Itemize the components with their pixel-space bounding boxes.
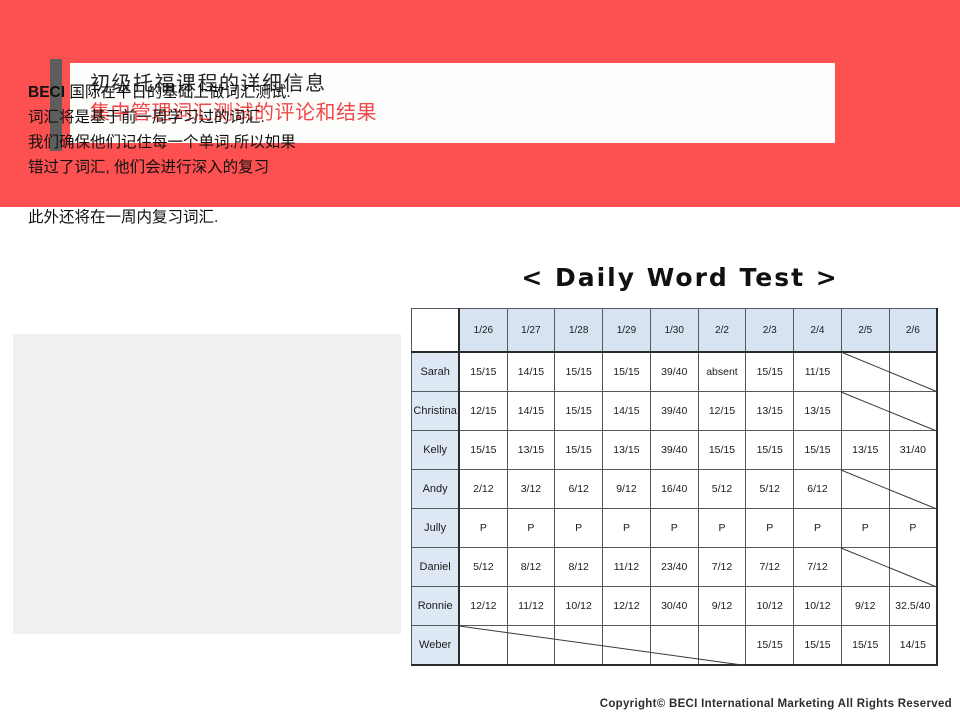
table-cell-score: 13/15 <box>507 431 555 470</box>
table-cell-score <box>650 626 698 666</box>
table-cell-score <box>603 626 651 666</box>
table-row-name: Andy <box>412 470 460 509</box>
table-cell-score: 7/12 <box>794 548 842 587</box>
table-cell-score: 10/12 <box>794 587 842 626</box>
table-cell-score: P <box>889 509 937 548</box>
table-cell-score: 15/15 <box>746 431 794 470</box>
table-cell-score: 30/40 <box>650 587 698 626</box>
table-cell-score: 15/15 <box>841 626 889 666</box>
table-row: Kelly15/1513/1515/1513/1539/4015/1515/15… <box>412 431 938 470</box>
table-cell-score: 16/40 <box>650 470 698 509</box>
table-cell-score: 15/15 <box>794 626 842 666</box>
table-cell-score: P <box>459 509 507 548</box>
table-cell-score: P <box>746 509 794 548</box>
table-cell-score <box>889 352 937 392</box>
table-column-header: 1/30 <box>650 309 698 353</box>
table-cell-score: P <box>698 509 746 548</box>
table-cell-score: 15/15 <box>459 431 507 470</box>
table-cell-score: absent <box>698 352 746 392</box>
table-cell-score: 6/12 <box>794 470 842 509</box>
table-cell-score <box>555 626 603 666</box>
table-cell-score: 32.5/40 <box>889 587 937 626</box>
table-cell-score: 3/12 <box>507 470 555 509</box>
table-cell-score: 39/40 <box>650 431 698 470</box>
table-title: < Daily Word Test > <box>410 263 950 292</box>
table-column-header: 2/5 <box>841 309 889 353</box>
table-cell-score <box>841 548 889 587</box>
table-cell-score: 6/12 <box>555 470 603 509</box>
table-cell-score: 15/15 <box>555 352 603 392</box>
description-blank-line <box>28 180 373 205</box>
table-row-name: Weber <box>412 626 460 666</box>
table-column-header: 1/29 <box>603 309 651 353</box>
description-line: 此外还将在一周内复习词汇. <box>28 205 373 230</box>
table-row-name: Daniel <box>412 548 460 587</box>
table-cell-score: 15/15 <box>698 431 746 470</box>
table-cell-score <box>841 352 889 392</box>
table-cell-score: 15/15 <box>555 431 603 470</box>
table-cell-score: 8/12 <box>507 548 555 587</box>
description-text-group: BECI 国际在平日的基础上做词汇测试.词汇将是基于前一周学习过的词汇.我们确保… <box>28 80 373 230</box>
table-cell-score <box>507 626 555 666</box>
table-cell-score: 12/15 <box>459 392 507 431</box>
daily-word-test-table-wrap: 1/261/271/281/291/302/22/32/42/52/6 Sara… <box>411 308 938 653</box>
table-corner-cell <box>412 309 460 353</box>
table-cell-score: P <box>507 509 555 548</box>
description-line: 词汇将是基于前一周学习过的词汇. <box>28 105 373 130</box>
table-cell-score <box>459 626 507 666</box>
table-cell-score <box>889 470 937 509</box>
table-cell-score: 14/15 <box>889 626 937 666</box>
table-row: Sarah15/1514/1515/1515/1539/40absent15/1… <box>412 352 938 392</box>
table-column-header: 2/4 <box>794 309 842 353</box>
table-cell-score: 39/40 <box>650 392 698 431</box>
table-cell-score: 12/15 <box>698 392 746 431</box>
table-row: Christina12/1514/1515/1514/1539/4012/151… <box>412 392 938 431</box>
table-cell-score: 11/15 <box>794 352 842 392</box>
table-cell-score: 14/15 <box>603 392 651 431</box>
table-cell-score: 11/12 <box>603 548 651 587</box>
description-line: 我们确保他们记住每一个单词.所以如果 <box>28 130 373 155</box>
table-cell-score: 8/12 <box>555 548 603 587</box>
table-cell-score: 15/15 <box>746 626 794 666</box>
table-column-header: 2/6 <box>889 309 937 353</box>
table-column-header: 2/2 <box>698 309 746 353</box>
table-head: 1/261/271/281/291/302/22/32/42/52/6 <box>412 309 938 353</box>
table-cell-score: 5/12 <box>698 470 746 509</box>
table-cell-score: 5/12 <box>746 470 794 509</box>
table-column-header: 1/28 <box>555 309 603 353</box>
table-row-name: Christina <box>412 392 460 431</box>
table-cell-score: 15/15 <box>746 352 794 392</box>
table-cell-score <box>698 626 746 666</box>
table-cell-score: 14/15 <box>507 392 555 431</box>
description-panel <box>13 334 401 634</box>
table-cell-score: 2/12 <box>459 470 507 509</box>
table-header-row: 1/261/271/281/291/302/22/32/42/52/6 <box>412 309 938 353</box>
table-cell-score: P <box>841 509 889 548</box>
table-row-name: Ronnie <box>412 587 460 626</box>
table-cell-score: 13/15 <box>603 431 651 470</box>
table-cell-score: 9/12 <box>841 587 889 626</box>
table-column-header: 2/3 <box>746 309 794 353</box>
table-cell-score: 12/12 <box>459 587 507 626</box>
table-cell-score: P <box>555 509 603 548</box>
table-cell-score: 23/40 <box>650 548 698 587</box>
table-cell-score: P <box>603 509 651 548</box>
table-cell-score: 10/12 <box>555 587 603 626</box>
table-row: Daniel5/128/128/1211/1223/407/127/127/12 <box>412 548 938 587</box>
table-column-header: 1/26 <box>459 309 507 353</box>
table-cell-score: 9/12 <box>603 470 651 509</box>
table-column-header: 1/27 <box>507 309 555 353</box>
table-row: JullyPPPPPPPPPP <box>412 509 938 548</box>
table-cell-score: 15/15 <box>459 352 507 392</box>
table-row: Andy2/123/126/129/1216/405/125/126/12 <box>412 470 938 509</box>
description-line: BECI 国际在平日的基础上做词汇测试. <box>28 80 373 105</box>
footer-copyright: Copyright© BECI International Marketing … <box>0 698 952 710</box>
table-cell-score: 13/15 <box>794 392 842 431</box>
table-cell-score: 13/15 <box>746 392 794 431</box>
table-row-name: Jully <box>412 509 460 548</box>
table-cell-score <box>841 470 889 509</box>
table-row-name: Kelly <box>412 431 460 470</box>
table-body: Sarah15/1514/1515/1515/1539/40absent15/1… <box>412 352 938 665</box>
description-bold-brand: BECI <box>28 84 65 101</box>
table-cell-score <box>889 392 937 431</box>
table-cell-score: 10/12 <box>746 587 794 626</box>
table-cell-score: 15/15 <box>794 431 842 470</box>
table-cell-score: 15/15 <box>555 392 603 431</box>
table-cell-score: 11/12 <box>507 587 555 626</box>
table-cell-score: 7/12 <box>746 548 794 587</box>
table-cell-score: 14/15 <box>507 352 555 392</box>
table-cell-score <box>889 548 937 587</box>
table-cell-score: P <box>650 509 698 548</box>
description-line: 错过了词汇, 他们会进行深入的复习 <box>28 155 373 180</box>
table-cell-score: 39/40 <box>650 352 698 392</box>
table-cell-score <box>841 392 889 431</box>
table-cell-score: 15/15 <box>603 352 651 392</box>
daily-word-test-table: 1/261/271/281/291/302/22/32/42/52/6 Sara… <box>411 308 938 666</box>
table-row-name: Sarah <box>412 352 460 392</box>
table-cell-score: 7/12 <box>698 548 746 587</box>
table-cell-score: 9/12 <box>698 587 746 626</box>
table-row: Weber15/1515/1515/1514/15 <box>412 626 938 666</box>
table-cell-score: 5/12 <box>459 548 507 587</box>
table-row: Ronnie12/1211/1210/1212/1230/409/1210/12… <box>412 587 938 626</box>
table-cell-score: 12/12 <box>603 587 651 626</box>
table-cell-score: P <box>794 509 842 548</box>
table-cell-score: 13/15 <box>841 431 889 470</box>
table-cell-score: 31/40 <box>889 431 937 470</box>
